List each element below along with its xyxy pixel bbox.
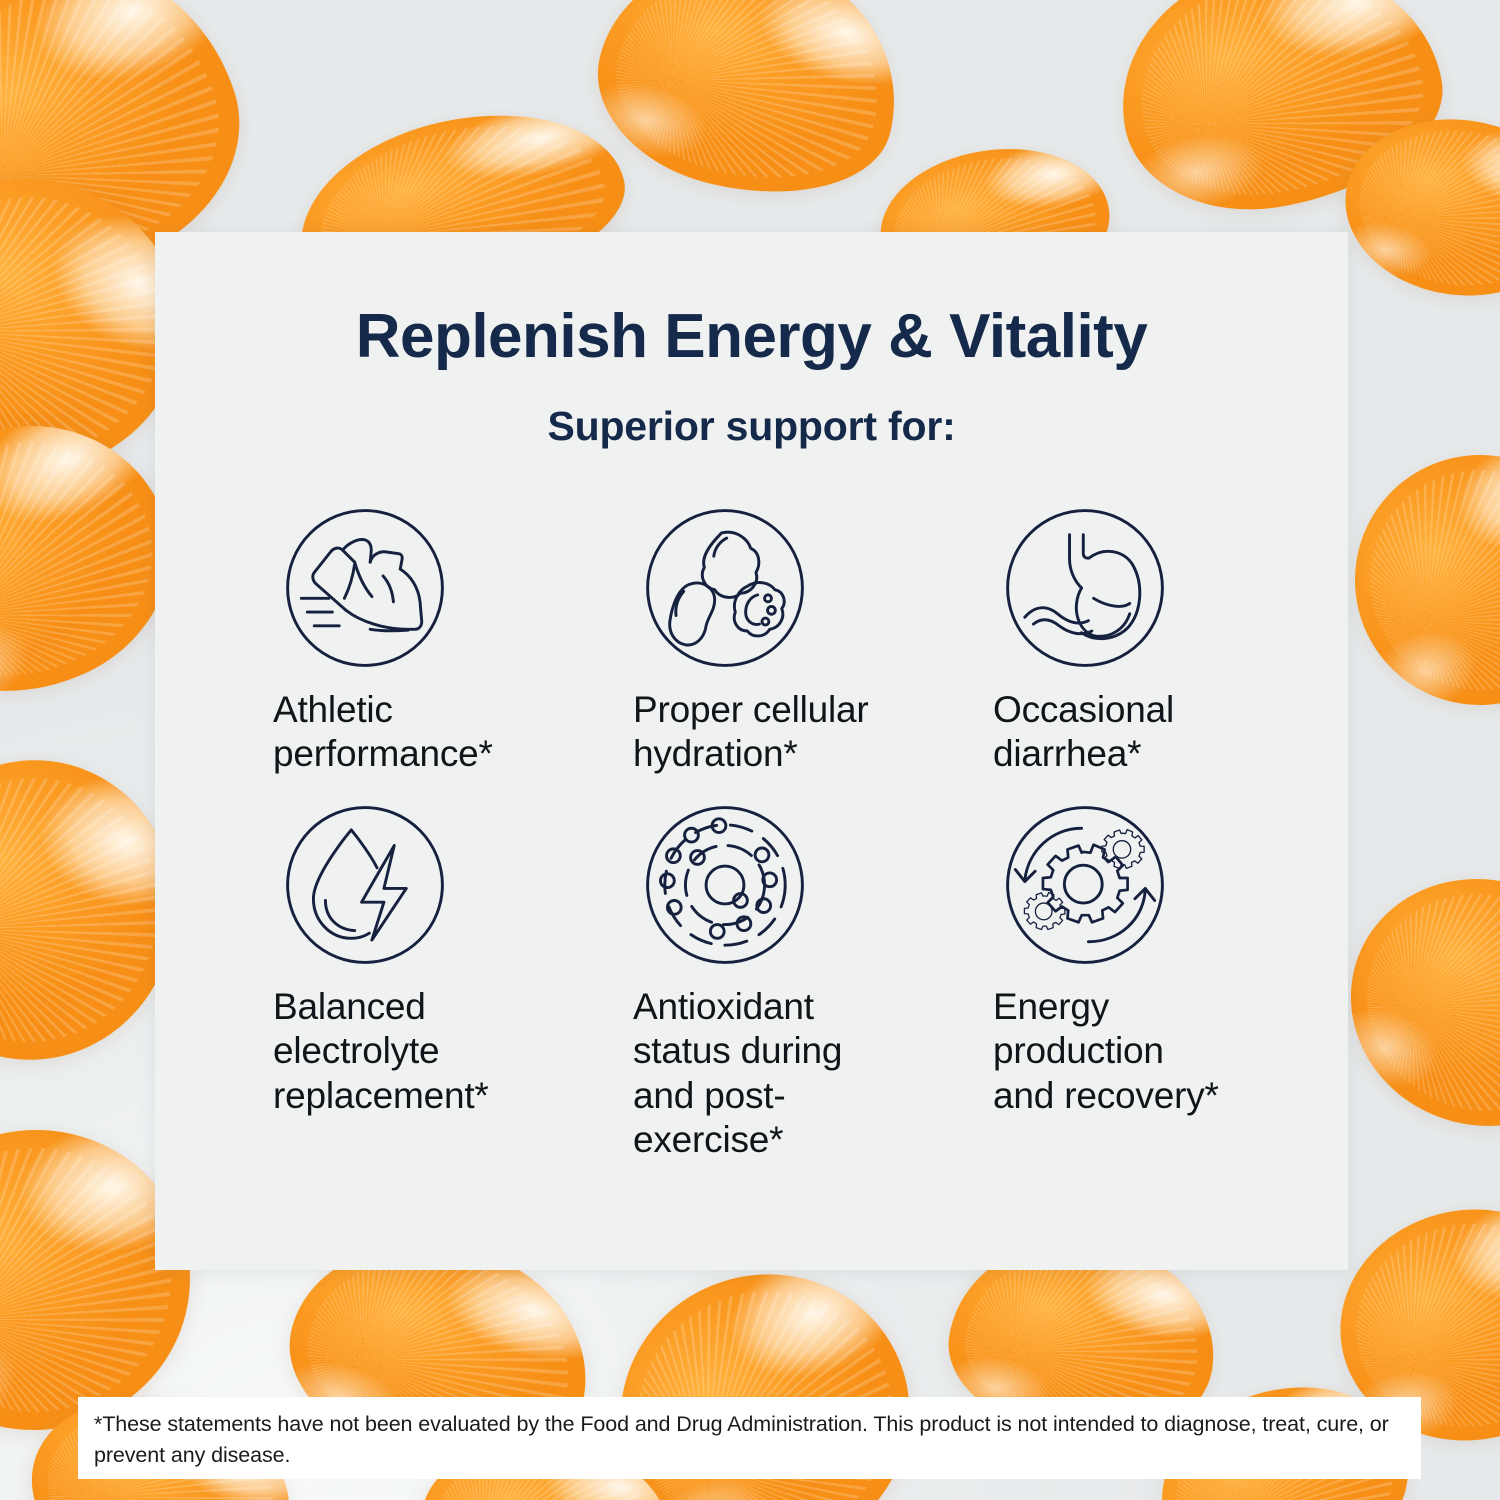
running-shoe-icon [279,502,451,674]
benefit-label: Occasional diarrhea* [993,688,1174,777]
benefit-label: Antioxidant status during and post- exer… [633,985,842,1163]
benefit-label: Athletic performance* [273,688,493,777]
benefit-label: Balanced electrolyte replacement* [273,985,489,1118]
subtitle: Superior support for: [215,403,1288,450]
gears-recycle-icon [999,799,1171,971]
benefit-label: Proper cellular hydration* [633,688,869,777]
benefit-item-cellular-hydration: Proper cellular hydration* [633,502,993,777]
benefit-item-balanced-electrolyte: Balanced electrolyte replacement* [273,799,633,1163]
orange-segment [1328,428,1500,731]
cells-icon [639,502,811,674]
benefit-item-occasional-diarrhea: Occasional diarrhea* [993,502,1273,777]
orange-segment [577,0,924,223]
disclaimer-text: *These statements have not been evaluate… [94,1409,1405,1470]
product-infographic: Replenish Energy & Vitality Superior sup… [0,0,1500,1500]
benefit-item-athletic-performance: Athletic performance* [273,502,633,777]
benefit-grid: Athletic performance* [273,502,1273,1162]
disclaimer-banner: *These statements have not been evaluate… [78,1397,1421,1479]
content-card: Replenish Energy & Vitality Superior sup… [155,232,1348,1270]
benefit-label: Energy production and recovery* [993,985,1219,1118]
water-drop-bolt-icon [279,799,451,971]
benefit-item-energy-production: Energy production and recovery* [993,799,1273,1163]
atom-orbit-icon [639,799,811,971]
benefit-item-antioxidant-status: Antioxidant status during and post- exer… [633,799,993,1163]
page-title: Replenish Energy & Vitality [215,304,1288,369]
stomach-icon [999,502,1171,674]
